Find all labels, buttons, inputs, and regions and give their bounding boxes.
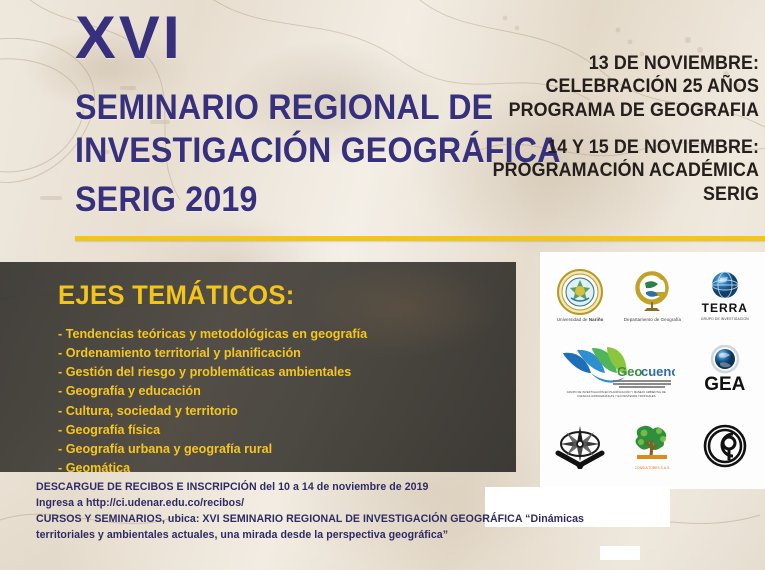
white-block-decoration-2 xyxy=(600,546,640,560)
footer-line-1: DESCARGUE DE RECIBOS E INSCRIPCIÓN del 1… xyxy=(36,480,756,496)
themes-list: - Tendencias teóricas y metodológicas en… xyxy=(58,325,502,472)
theme-item: - Geografía urbana y geografía rural xyxy=(58,440,502,459)
interlocked-circle-monogram-icon xyxy=(703,424,747,468)
themes-panel: EJES TEMÁTICOS: - Tendencias teóricas y … xyxy=(0,262,516,472)
logo-wordmark: GEA xyxy=(704,374,745,396)
logo-caption: CONSULTORES S.A.S. xyxy=(635,466,671,470)
sponsor-logos-panel: Universidad de Nariño Departamento de Ge… xyxy=(540,252,765,489)
svg-text:cuenca: cuenca xyxy=(641,364,675,379)
theme-item: - Ordenamiento territorial y planificaci… xyxy=(58,344,502,363)
logo-tree-forestry: CONSULTORES S.A.S. xyxy=(629,422,675,470)
logo-gea: GEA xyxy=(704,345,745,396)
logo-caption-thin: Universidad de xyxy=(557,317,588,322)
logo-wordmark: TERRA xyxy=(702,301,748,315)
geocuenca-swoosh-icon: Geo cuenca xyxy=(557,343,675,389)
logo-circle-monogram xyxy=(703,424,747,468)
poster-header: XVI SEMINARIO REGIONAL DE INVESTIGACIÓN … xyxy=(0,0,765,262)
gea-globe-ring-icon xyxy=(708,345,742,375)
theme-item: - Cultura, sociedad y territorio xyxy=(58,402,502,421)
logo-caption: GRUPO DE INVESTIGACIÓN EN PLANIFICACIÓN … xyxy=(566,391,666,397)
logo-compass-rose xyxy=(554,423,606,469)
logo-caption: GRUPO DE INVESTIGACION xyxy=(701,317,749,321)
logo-caption: Departamento de Geografía xyxy=(624,317,681,323)
dates-block: 13 DE NOVIEMBRE: CELEBRACIÓN 25 AÑOS PRO… xyxy=(459,52,759,220)
footer-line-4: territoriales y ambientales actuales, un… xyxy=(36,528,756,544)
title-line-1: SEMINARIO REGIONAL DE xyxy=(75,90,493,125)
title-line-3: SERIG 2019 xyxy=(75,182,258,217)
theme-item: - Geografía física xyxy=(58,421,502,440)
svg-text:Geo: Geo xyxy=(617,364,642,379)
globe-stand-g-icon xyxy=(631,269,673,315)
logo-terra: TERRA GRUPO DE INVESTIGACION xyxy=(701,270,749,321)
blue-globe-icon xyxy=(708,270,742,300)
themes-heading: EJES TEMÁTICOS: xyxy=(58,280,480,311)
tree-map-icon xyxy=(629,422,675,464)
university-seal-icon xyxy=(557,269,603,315)
date-group-2: 14 Y 15 DE NOVIEMBRE: PROGRAMACIÓN ACADÉ… xyxy=(459,136,759,206)
title-edition-number: XVI xyxy=(75,8,183,68)
theme-item: - Geografía y educación xyxy=(58,382,502,401)
logo-caption-bold: Nariño xyxy=(589,317,604,322)
date-line: 14 Y 15 DE NOVIEMBRE: xyxy=(477,136,759,159)
date-line: CELEBRACIÓN 25 AÑOS xyxy=(477,75,759,98)
yellow-divider-rule xyxy=(75,236,765,241)
footer-line-2: Ingresa a http://ci.udenar.edu.co/recibo… xyxy=(36,496,756,512)
theme-item: - Tendencias teóricas y metodológicas en… xyxy=(58,325,502,344)
theme-item: - Gestión del riesgo y problemáticas amb… xyxy=(58,363,502,382)
date-line: 13 DE NOVIEMBRE: xyxy=(477,52,759,75)
date-line: PROGRAMA DE GEOGRAFIA xyxy=(477,99,759,122)
poster-root: XVI SEMINARIO REGIONAL DE INVESTIGACIÓN … xyxy=(0,0,765,570)
logo-departamento-de-geografia: Departamento de Geografía xyxy=(624,269,681,323)
theme-item: - Geomática xyxy=(58,459,502,472)
date-line: PROGRAMACIÓN ACADÉMICA SERIG xyxy=(477,159,759,206)
compass-rose-icon xyxy=(554,423,606,469)
logo-universidad-de-narino: Universidad de Nariño xyxy=(557,269,604,323)
logo-geocuenca: Geo cuenca GRUPO DE INVESTIGACIÓN EN PLA… xyxy=(557,343,675,397)
date-group-1: 13 DE NOVIEMBRE: CELEBRACIÓN 25 AÑOS PRO… xyxy=(459,52,759,122)
logo-caption: Universidad de Nariño xyxy=(557,317,604,323)
footer-line-3: CURSOS Y SEMINARIOS, ubica: XVI SEMINARI… xyxy=(36,512,756,528)
footer-info: DESCARGUE DE RECIBOS E INSCRIPCIÓN del 1… xyxy=(36,480,756,544)
